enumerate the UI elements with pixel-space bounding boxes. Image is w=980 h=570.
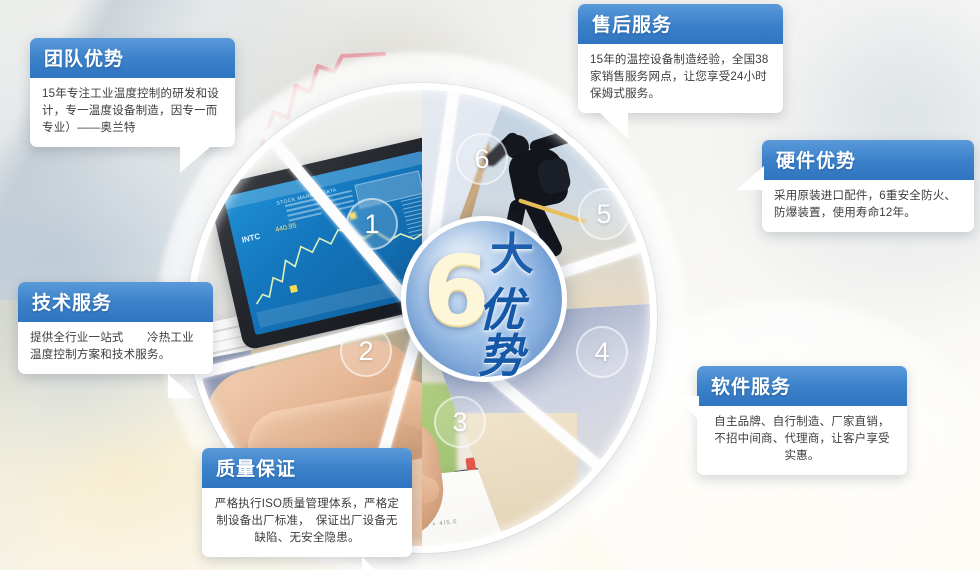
callout-hardware-advantage[interactable]: 硬件优势 采用原装进口配件，6重安全防火、防爆装置，使用寿命12年。 bbox=[762, 140, 974, 232]
callout-body-after-sales: 15年的温控设备制造经验，全国38家销售服务网点，让您享受24小时保姆式服务。 bbox=[578, 44, 783, 113]
callout-title-team: 团队优势 bbox=[30, 38, 235, 78]
callout-body-quality: 严格执行ISO质量管理体系，严格定制设备出厂标准， 保证出厂设备无缺陷、无安全隐… bbox=[202, 488, 412, 557]
callout-tail-hardware bbox=[736, 166, 764, 190]
number-badge-2[interactable]: 2 bbox=[340, 325, 392, 377]
callout-software-service[interactable]: 软件服务 自主品牌、自行制造、厂家直销，不招中间商、代理商，让客户享受实惠。 bbox=[697, 366, 907, 475]
number-badge-6[interactable]: 6 bbox=[456, 133, 508, 185]
callout-tail-technical bbox=[168, 374, 194, 398]
callout-tail-after-sales bbox=[600, 113, 628, 139]
number-badge-3[interactable]: 3 bbox=[434, 396, 486, 448]
callout-title-quality: 质量保证 bbox=[202, 448, 412, 488]
callout-technical-service[interactable]: 技术服务 提供全行业一站式 冷热工业温度控制方案和技术服务。 bbox=[18, 282, 213, 374]
callout-tail-software bbox=[673, 396, 699, 420]
center-word-youshi: 优势 bbox=[478, 287, 562, 379]
callout-body-software: 自主品牌、自行制造、厂家直销，不招中间商、代理商，让客户享受实惠。 bbox=[697, 406, 907, 475]
callout-body-hardware: 采用原装进口配件，6重安全防火、防爆装置，使用寿命12年。 bbox=[762, 180, 974, 232]
callout-body-technical: 提供全行业一站式 冷热工业温度控制方案和技术服务。 bbox=[18, 322, 213, 374]
number-badge-5[interactable]: 5 bbox=[578, 188, 630, 240]
callout-body-team: 15年专注工业温度控制的研发和设计，专一温度设备制造，因专一而专业）——奥兰特 bbox=[30, 78, 235, 147]
callout-quality-assurance[interactable]: 质量保证 严格执行ISO质量管理体系，严格定制设备出厂标准， 保证出厂设备无缺陷… bbox=[202, 448, 412, 557]
callout-title-software: 软件服务 bbox=[697, 366, 907, 406]
number-badge-4[interactable]: 4 bbox=[576, 326, 628, 378]
number-badge-1[interactable]: 1 bbox=[346, 198, 398, 250]
callout-title-technical: 技术服务 bbox=[18, 282, 213, 322]
center-badge: 6 大 优势 bbox=[401, 216, 567, 382]
callout-tail-team bbox=[180, 147, 210, 173]
callout-title-hardware: 硬件优势 bbox=[762, 140, 974, 180]
callout-after-sales-service[interactable]: 售后服务 15年的温控设备制造经验，全国38家销售服务网点，让您享受24小时保姆… bbox=[578, 4, 783, 113]
callout-tail-quality bbox=[362, 557, 388, 570]
center-word-da: 大 bbox=[490, 233, 534, 277]
infographic-poster: STOCK MARKET DATA INTC 440.95 bbox=[0, 0, 980, 570]
callout-title-after-sales: 售后服务 bbox=[578, 4, 783, 44]
callout-team-advantage[interactable]: 团队优势 15年专注工业温度控制的研发和设计，专一温度设备制造，因专一而专业）—… bbox=[30, 38, 235, 147]
